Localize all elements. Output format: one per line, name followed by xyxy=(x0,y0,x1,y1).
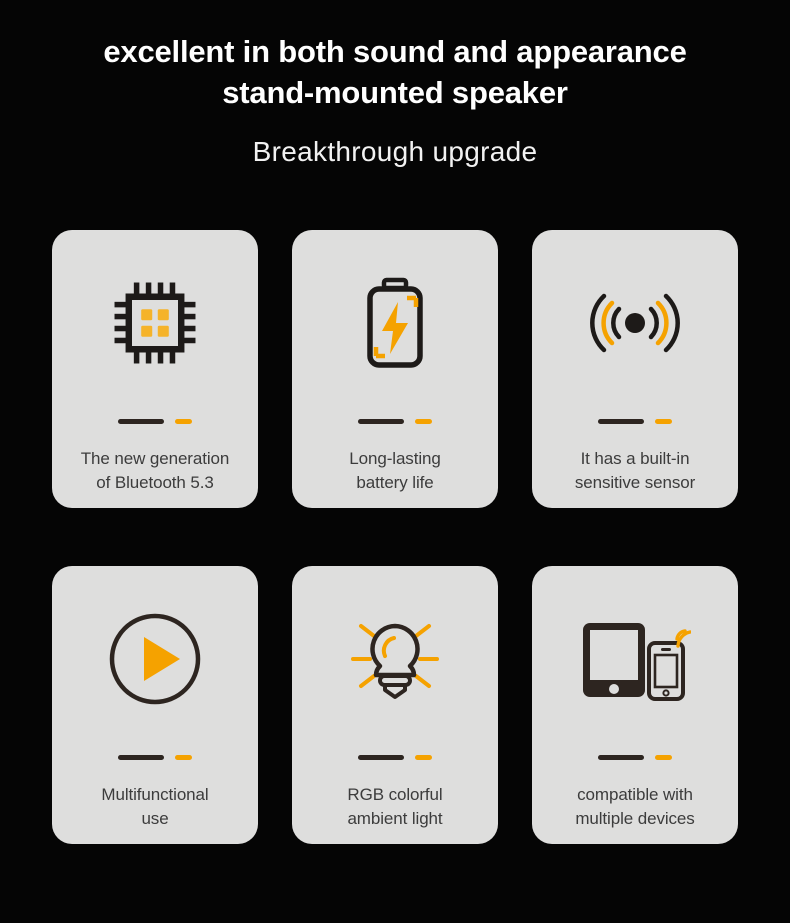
card-caption: Long-lasting battery life xyxy=(341,447,448,495)
page-subtitle: Breakthrough upgrade xyxy=(0,136,790,168)
feature-card-rgb-light[interactable]: RGB colorful ambient light xyxy=(292,566,498,844)
divider-dash-orange xyxy=(655,755,672,760)
caption-line-2: sensitive sensor xyxy=(575,471,695,495)
caption-line-2: ambient light xyxy=(347,807,442,831)
page-header: excellent in both sound and appearance s… xyxy=(0,0,790,168)
caption-line-1: It has a built-in xyxy=(575,447,695,471)
headline-line-2: stand-mounted speaker xyxy=(15,73,775,114)
card-divider xyxy=(598,416,672,426)
tablet-phone-icon xyxy=(532,566,738,752)
card-caption: RGB colorful ambient light xyxy=(339,783,450,831)
light-bulb-icon xyxy=(292,566,498,752)
divider-dash-dark xyxy=(598,755,644,760)
divider-dash-orange xyxy=(655,419,672,424)
card-divider xyxy=(598,752,672,762)
card-divider xyxy=(358,416,432,426)
card-caption: compatible with multiple devices xyxy=(567,783,702,831)
feature-card-grid: The new generation of Bluetooth 5.3 xyxy=(52,230,738,844)
card-caption: The new generation of Bluetooth 5.3 xyxy=(73,447,237,495)
divider-dash-dark xyxy=(118,419,164,424)
caption-line-1: The new generation xyxy=(81,447,229,471)
divider-dash-orange xyxy=(415,419,432,424)
page-title: excellent in both sound and appearance s… xyxy=(15,32,775,114)
cpu-chip-icon xyxy=(52,230,258,416)
caption-line-2: battery life xyxy=(349,471,440,495)
feature-card-bluetooth[interactable]: The new generation of Bluetooth 5.3 xyxy=(52,230,258,508)
caption-line-1: compatible with xyxy=(575,783,694,807)
divider-dash-dark xyxy=(358,419,404,424)
feature-card-multifunction[interactable]: Multifunctional use xyxy=(52,566,258,844)
card-divider xyxy=(118,752,192,762)
feature-card-sensor[interactable]: It has a built-in sensitive sensor xyxy=(532,230,738,508)
caption-line-1: RGB colorful xyxy=(347,783,442,807)
caption-line-1: Long-lasting xyxy=(349,447,440,471)
divider-dash-orange xyxy=(175,419,192,424)
feature-card-battery[interactable]: Long-lasting battery life xyxy=(292,230,498,508)
divider-dash-dark xyxy=(118,755,164,760)
caption-line-2: of Bluetooth 5.3 xyxy=(81,471,229,495)
feature-card-compatibility[interactable]: compatible with multiple devices xyxy=(532,566,738,844)
caption-line-2: multiple devices xyxy=(575,807,694,831)
headline-line-1: excellent in both sound and appearance xyxy=(15,32,775,73)
divider-dash-orange xyxy=(175,755,192,760)
card-divider xyxy=(118,416,192,426)
battery-bolt-icon xyxy=(292,230,498,416)
play-circle-icon xyxy=(52,566,258,752)
card-caption: Multifunctional use xyxy=(93,783,216,831)
caption-line-2: use xyxy=(101,807,208,831)
divider-dash-dark xyxy=(598,419,644,424)
card-caption: It has a built-in sensitive sensor xyxy=(567,447,703,495)
divider-dash-dark xyxy=(358,755,404,760)
sensor-waves-icon xyxy=(532,230,738,416)
caption-line-1: Multifunctional xyxy=(101,783,208,807)
divider-dash-orange xyxy=(415,755,432,760)
promo-page: excellent in both sound and appearance s… xyxy=(0,0,790,923)
card-divider xyxy=(358,752,432,762)
